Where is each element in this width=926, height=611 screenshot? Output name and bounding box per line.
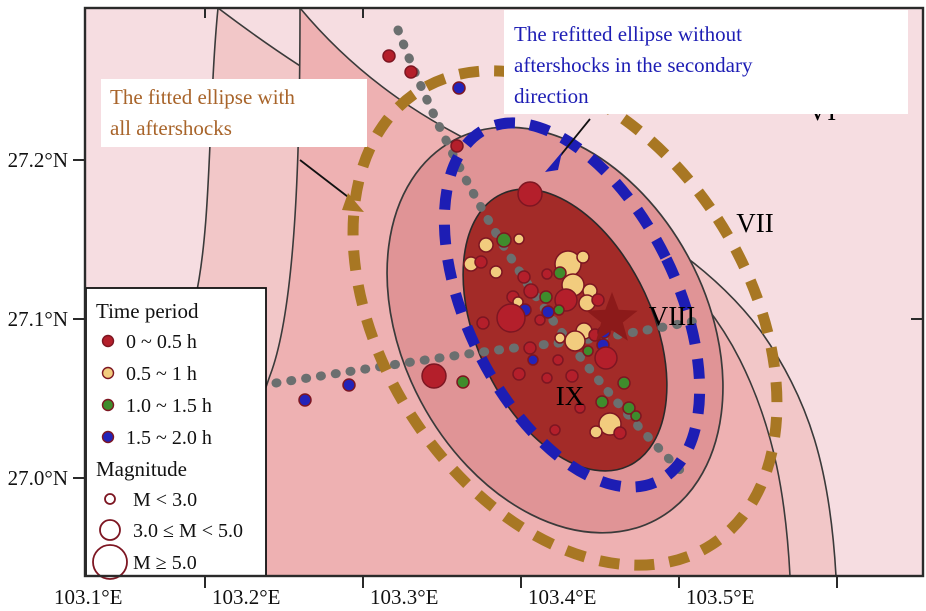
legend-title-magnitude: Magnitude [96, 457, 187, 481]
aftershock-marker [453, 82, 465, 94]
x-tick-label-1: 103.2°E [212, 585, 280, 609]
seismic-map-svg: VI VII VIII IX The fitted ellipse with a… [0, 0, 926, 611]
legend-label-time-3: 1.5 ~ 2.0 h [126, 427, 212, 449]
aftershock-marker [524, 342, 536, 354]
aftershock-marker [383, 50, 395, 62]
aftershock-marker [550, 425, 560, 435]
y-tick-label-1: 27.1°N [8, 307, 68, 331]
aftershock-marker [343, 379, 355, 391]
aftershock-marker [618, 377, 630, 389]
aftershock-marker [422, 364, 446, 388]
aftershock-marker [540, 291, 552, 303]
annotation-blue-line-2: aftershocks in the secondary [514, 53, 753, 77]
intensity-label-VIII: VIII [649, 301, 695, 331]
aftershock-marker [590, 426, 602, 438]
intensity-label-IX: IX [556, 381, 585, 411]
aftershock-marker [577, 251, 589, 263]
x-tick-label-4: 103.5°E [686, 585, 754, 609]
annotation-blue-line-3: direction [514, 84, 589, 108]
annotation-brown-line-2: all aftershocks [110, 116, 232, 140]
intensity-label-VII: VII [736, 208, 773, 238]
y-tick-label-0: 27.2°N [8, 148, 68, 172]
legend-label-mag-0: M < 3.0 [133, 489, 197, 511]
aftershock-marker [475, 256, 487, 268]
aftershock-marker [554, 267, 566, 279]
aftershock-marker [497, 304, 525, 332]
legend-swatch-time-0 [103, 336, 114, 347]
aftershock-marker [524, 284, 538, 298]
legend-label-mag-2: M ≥ 5.0 [133, 552, 197, 574]
aftershock-marker [592, 294, 604, 306]
legend-label-mag-1: 3.0 ≤ M < 5.0 [133, 520, 243, 542]
aftershock-marker [497, 233, 511, 247]
legend-swatch-time-2 [103, 400, 114, 411]
legend-swatch-time-3 [103, 432, 114, 443]
legend-label-time-2: 1.0 ~ 1.5 h [126, 395, 212, 417]
legend-swatch-time-1 [103, 368, 114, 379]
aftershock-marker [565, 331, 585, 351]
x-tick-label-3: 103.4°E [528, 585, 596, 609]
aftershock-marker [553, 355, 563, 365]
aftershock-marker [513, 368, 525, 380]
aftershock-marker [477, 317, 489, 329]
aftershock-marker [631, 411, 641, 421]
legend: Time period 0 ~ 0.5 h 0.5 ~ 1 h 1.0 ~ 1.… [86, 288, 266, 579]
aftershock-marker [528, 355, 538, 365]
legend-title-time-period: Time period [96, 299, 199, 323]
aftershock-marker [542, 269, 552, 279]
aftershock-marker [595, 347, 617, 369]
aftershock-marker [514, 234, 524, 244]
annotation-brown-line-1: The fitted ellipse with [110, 85, 295, 109]
aftershock-marker [535, 315, 545, 325]
aftershock-marker [555, 333, 565, 343]
aftershock-marker [554, 305, 564, 315]
aftershock-marker [518, 182, 542, 206]
figure-root: VI VII VIII IX The fitted ellipse with a… [0, 0, 926, 611]
aftershock-marker [451, 140, 463, 152]
aftershock-marker [490, 266, 502, 278]
aftershock-marker [518, 271, 530, 283]
aftershock-marker [479, 238, 493, 252]
x-tick-label-0: 103.1°E [54, 585, 122, 609]
x-tick-label-2: 103.3°E [370, 585, 438, 609]
aftershock-marker [614, 427, 626, 439]
aftershock-marker [596, 396, 608, 408]
legend-label-time-0: 0 ~ 0.5 h [126, 331, 197, 353]
aftershock-marker [457, 376, 469, 388]
y-tick-label-2: 27.0°N [8, 466, 68, 490]
annotation-blue-line-1: The refitted ellipse without [514, 22, 742, 46]
legend-label-time-1: 0.5 ~ 1 h [126, 363, 197, 385]
aftershock-marker [405, 66, 417, 78]
aftershock-marker [583, 346, 593, 356]
aftershock-marker [299, 394, 311, 406]
aftershock-marker [542, 373, 552, 383]
